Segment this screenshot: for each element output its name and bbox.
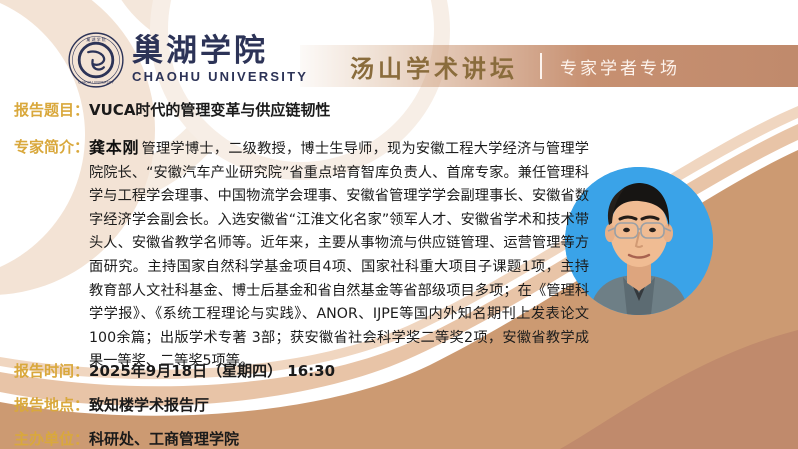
speaker-bio-label: 专家简介： <box>14 136 89 157</box>
banner-title: 汤山学术讲坛 <box>350 49 518 84</box>
university-logo: 巢 湖 学 院 CHAOHU UNIVERSITY 巢湖学院 CHAOHU UN… <box>68 32 308 88</box>
report-place-label: 报告地点： <box>14 394 89 415</box>
banner-subtitle: 专家学者专场 <box>560 54 680 79</box>
report-title-row: 报告题目： VUCA时代的管理变革与供应链韧性 <box>14 99 330 120</box>
speaker-bio-text: 龚本刚管理学博士，二级教授，博士生导师，现为安徽工程大学经济与管理学院院长、“安… <box>89 136 589 374</box>
report-time-label: 报告时间： <box>14 360 89 381</box>
report-time-row: 报告时间： 2025年9月18日（星期四） 16:30 <box>14 360 335 381</box>
seminar-poster: 汤山学术讲坛 专家学者专场 巢 湖 学 院 CHAOHU UNIVERSITY … <box>0 0 798 449</box>
report-place-value: 致知楼学术报告厅 <box>89 394 209 415</box>
report-host-value: 科研处、工商管理学院 <box>89 428 239 449</box>
speaker-name: 龚本刚 <box>89 138 139 157</box>
report-host-row: 主办单位： 科研处、工商管理学院 <box>14 428 239 449</box>
svg-text:巢 湖 学 院: 巢 湖 学 院 <box>86 37 105 42</box>
university-seal-icon: 巢 湖 学 院 CHAOHU UNIVERSITY <box>68 32 124 88</box>
logo-name-en: CHAOHU UNIVERSITY <box>132 69 308 85</box>
report-host-label: 主办单位： <box>14 428 89 449</box>
report-time-value: 2025年9月18日（星期四） 16:30 <box>89 360 335 381</box>
report-title-value: VUCA时代的管理变革与供应链韧性 <box>89 99 330 120</box>
report-place-row: 报告地点： 致知楼学术报告厅 <box>14 394 209 415</box>
svg-text:CHAOHU UNIVERSITY: CHAOHU UNIVERSITY <box>78 81 115 85</box>
vertical-divider-icon <box>540 53 542 79</box>
speaker-bio-row: 专家简介： 龚本刚管理学博士，二级教授，博士生导师，现为安徽工程大学经济与管理学… <box>14 136 589 374</box>
forum-banner: 汤山学术讲坛 专家学者专场 <box>300 45 798 87</box>
report-title-label: 报告题目： <box>14 99 89 120</box>
logo-name-cn: 巢湖学院 <box>132 35 308 68</box>
speaker-bio-body: 管理学博士，二级教授，博士生导师，现为安徽工程大学经济与管理学院院长、“安徽汽车… <box>89 141 589 369</box>
